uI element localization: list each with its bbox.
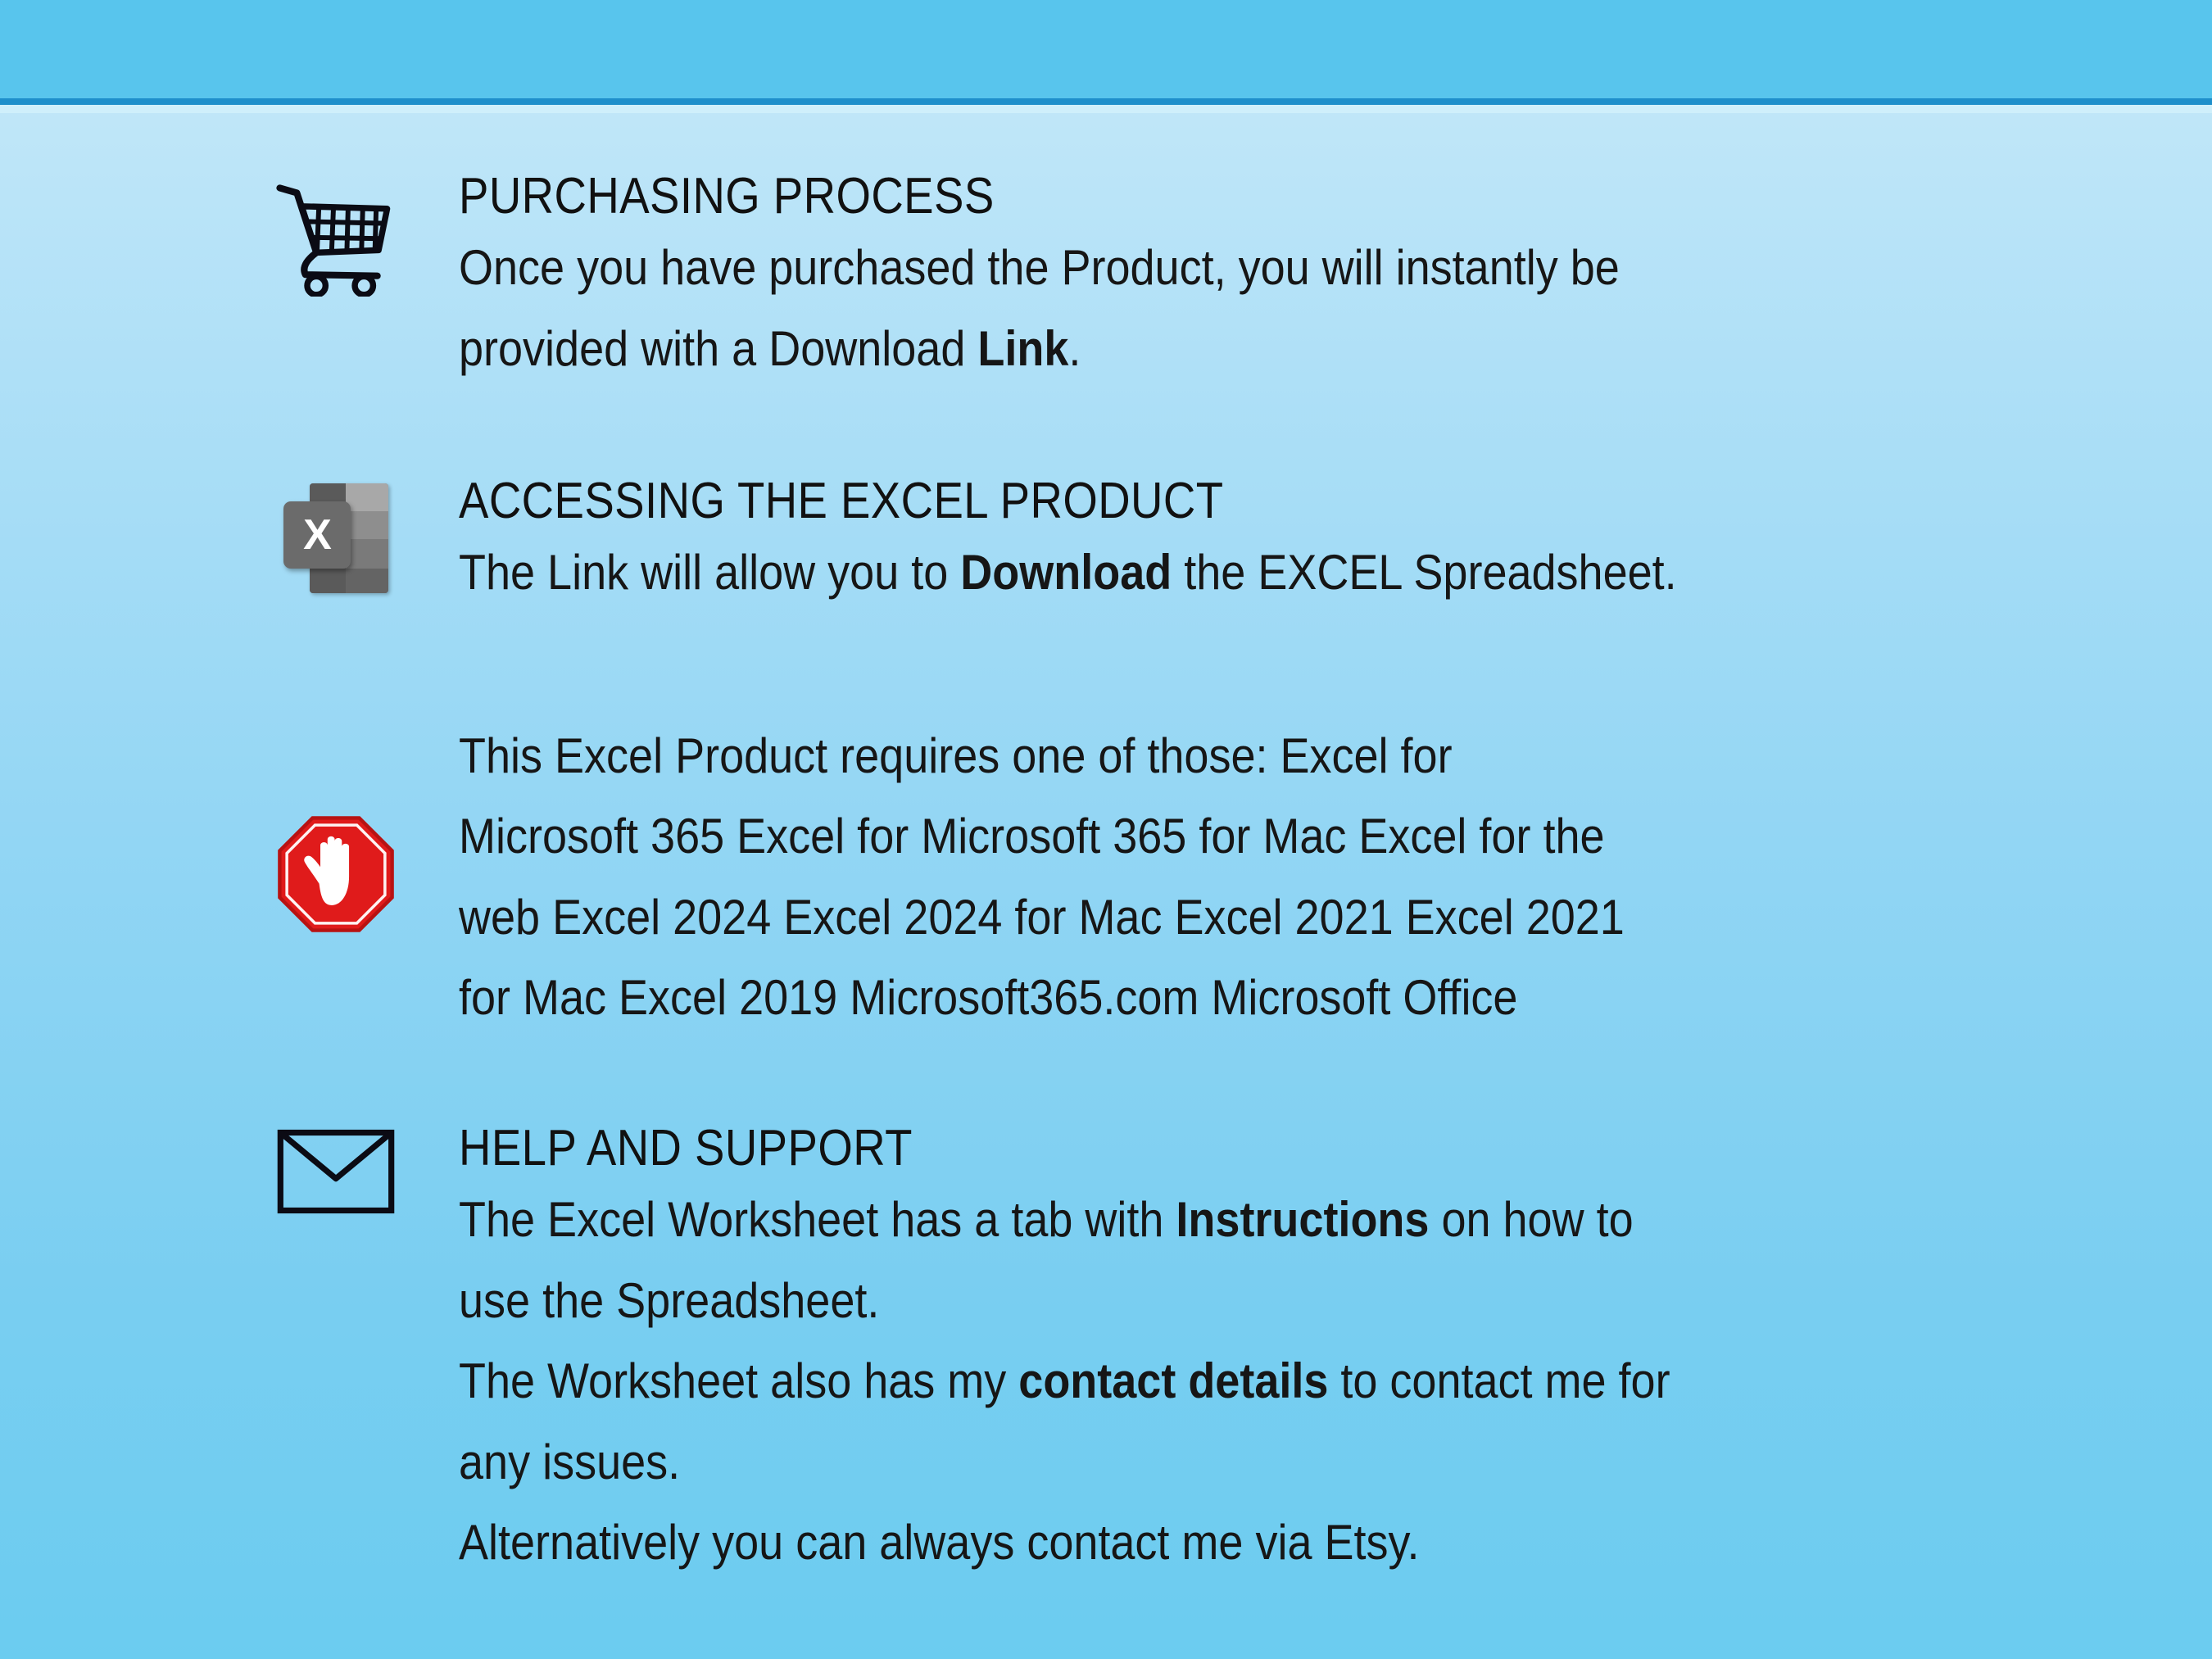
body-text: This Excel Product requires one of those…: [459, 728, 1453, 783]
section-accessing-the-excel-product: X ACCESSING THE EXCEL PRODUCT The Link w…: [213, 475, 2097, 614]
content-area: PURCHASING PROCESS Once you have purchas…: [0, 113, 2212, 1659]
body-text: .: [1068, 321, 1081, 376]
section-purchasing-process: PURCHASING PROCESS Once you have purchas…: [213, 170, 2097, 389]
banner-divider-rule: [0, 98, 2212, 105]
body-text: to contact me for: [1328, 1353, 1670, 1408]
emphasis-text: contact details: [1018, 1353, 1328, 1408]
microsoft-excel-icon: X: [283, 482, 388, 596]
body-text: web Excel 2024 Excel 2024 for Mac Excel …: [459, 890, 1625, 945]
body-text: any issues.: [459, 1435, 680, 1489]
body-text: for Mac Excel 2019 Microsoft365.com Micr…: [459, 970, 1517, 1025]
section-title: HELP AND SUPPORT: [459, 1122, 1901, 1175]
section-title: PURCHASING PROCESS: [459, 170, 1901, 223]
icon-column: [213, 170, 459, 297]
body-text: Microsoft 365 Excel for Microsoft 365 fo…: [459, 809, 1605, 863]
icon-column: X: [213, 475, 459, 596]
envelope-icon: [277, 1129, 395, 1214]
stop-hand-icon: [276, 814, 396, 934]
text-column: This Excel Product requires one of those…: [459, 716, 2097, 1039]
top-banner: [0, 0, 2212, 98]
emphasis-text: Instructions: [1176, 1192, 1429, 1247]
icon-column: [213, 716, 459, 934]
shopping-cart-icon: [274, 182, 397, 297]
emphasis-text: Link: [977, 321, 1068, 376]
excel-doc-band: [346, 569, 388, 593]
body-text: The Excel Worksheet has a tab with: [459, 1192, 1176, 1247]
text-column: PURCHASING PROCESS Once you have purchas…: [459, 170, 2097, 389]
section-help-and-support: HELP AND SUPPORT The Excel Worksheet has…: [213, 1122, 2097, 1583]
body-text: provided with a Download: [459, 321, 977, 376]
text-column: ACCESSING THE EXCEL PRODUCT The Link wil…: [459, 475, 2097, 614]
info-panel: PURCHASING PROCESS Once you have purchas…: [0, 0, 2212, 1659]
body-text: The Link will allow you to: [459, 545, 960, 600]
section-body: This Excel Product requires one of those…: [459, 716, 1860, 1039]
excel-doc-band: [346, 483, 388, 511]
excel-x-letter: X: [303, 514, 331, 556]
section-excel-requirements: This Excel Product requires one of those…: [213, 716, 2097, 1039]
excel-doc-band: [346, 511, 388, 539]
body-text: Once you have purchased the Product, you…: [459, 240, 1620, 295]
body-text: the EXCEL Spreadsheet.: [1172, 545, 1676, 600]
body-text: on how to: [1429, 1192, 1633, 1247]
section-body: Once you have purchased the Product, you…: [459, 228, 1860, 389]
banner-highlight-strip: [0, 105, 2212, 113]
text-column: HELP AND SUPPORT The Excel Worksheet has…: [459, 1122, 2097, 1583]
body-text: The Worksheet also has my: [459, 1353, 1018, 1408]
section-title: ACCESSING THE EXCEL PRODUCT: [459, 475, 1901, 528]
icon-column: [213, 1122, 459, 1214]
section-body: The Excel Worksheet has a tab with Instr…: [459, 1180, 1860, 1583]
body-text: Alternatively you can always contact me …: [459, 1515, 1420, 1570]
body-text: use the Spreadsheet.: [459, 1273, 879, 1328]
section-body: The Link will allow you to Download the …: [459, 533, 1860, 613]
emphasis-text: Download: [960, 545, 1172, 600]
excel-x-tile: X: [283, 501, 351, 569]
excel-doc-band: [346, 539, 388, 569]
